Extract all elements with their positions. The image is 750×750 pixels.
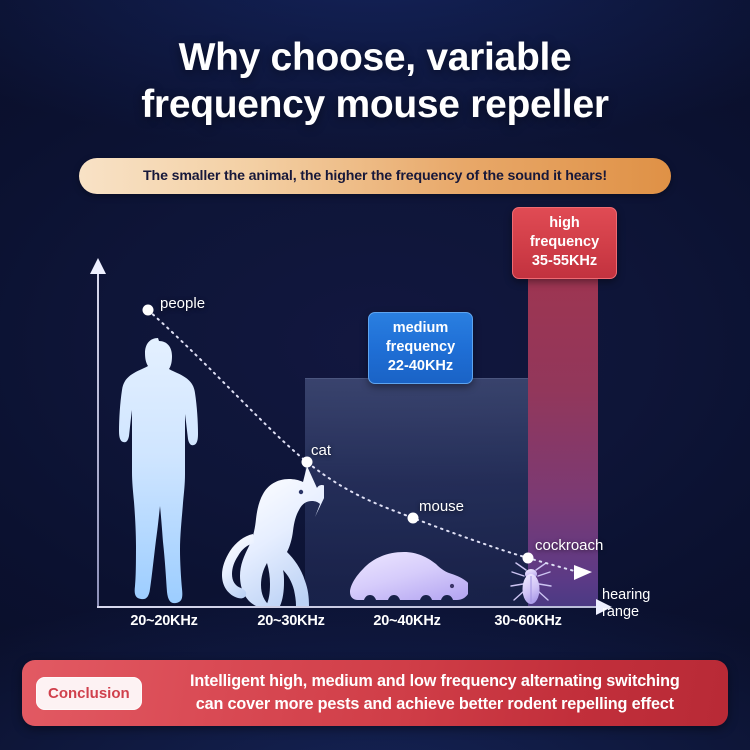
medium-frequency-badge: medium frequency 22-40KHz <box>368 312 473 384</box>
point-label-cockroach: cockroach <box>535 537 603 554</box>
title-line-1: Why choose, variable <box>179 36 572 79</box>
conclusion-line-2: can cover more pests and achieve better … <box>156 693 714 716</box>
y-axis-arrow-icon <box>90 258 106 274</box>
conclusion-text: Intelligent high, medium and low frequen… <box>156 670 714 716</box>
x-tick-label-cat: 20~30KHz <box>239 613 343 629</box>
high-badge-line-3: 35-55KHz <box>523 252 606 271</box>
medium-badge-line-3: 22-40KHz <box>379 357 462 376</box>
conclusion-tag: Conclusion <box>36 677 142 710</box>
high-frequency-badge: high frequency 35-55KHz <box>512 207 617 279</box>
infographic-poster: Why choose, variable frequency mouse rep… <box>0 0 750 750</box>
cockroach-silhouette <box>508 560 554 608</box>
x-tick-label-cockroach: 30~60KHz <box>476 613 580 629</box>
hearing-range-line-1: hearing <box>602 587 650 604</box>
cat-silhouette <box>218 462 324 608</box>
high-badge-line-2: frequency <box>523 233 606 252</box>
x-tick-label-people: 20~20KHz <box>112 613 216 629</box>
x-tick-label-mouse: 20~40KHz <box>355 613 459 629</box>
title-line-2: frequency mouse repeller <box>0 81 750 128</box>
medium-badge-line-2: frequency <box>379 338 462 357</box>
conclusion-line-1: Intelligent high, medium and low frequen… <box>156 670 714 693</box>
human-silhouette <box>112 336 204 608</box>
high-frequency-band <box>528 274 598 607</box>
point-label-people: people <box>160 295 205 312</box>
subtitle-banner: The smaller the animal, the higher the f… <box>79 158 671 194</box>
point-label-mouse: mouse <box>419 498 464 515</box>
y-axis <box>97 272 99 608</box>
conclusion-bar: Conclusion Intelligent high, medium and … <box>22 660 728 726</box>
page-title: Why choose, variable frequency mouse rep… <box>0 34 750 128</box>
hearing-range-axis-label: hearing range <box>602 587 650 621</box>
high-badge-line-1: high <box>523 214 606 233</box>
mouse-silhouette <box>346 548 468 608</box>
hearing-range-line-2: range <box>602 604 650 621</box>
subtitle-text: The smaller the animal, the higher the f… <box>143 168 607 184</box>
medium-badge-line-1: medium <box>379 319 462 338</box>
point-label-cat: cat <box>311 442 331 459</box>
